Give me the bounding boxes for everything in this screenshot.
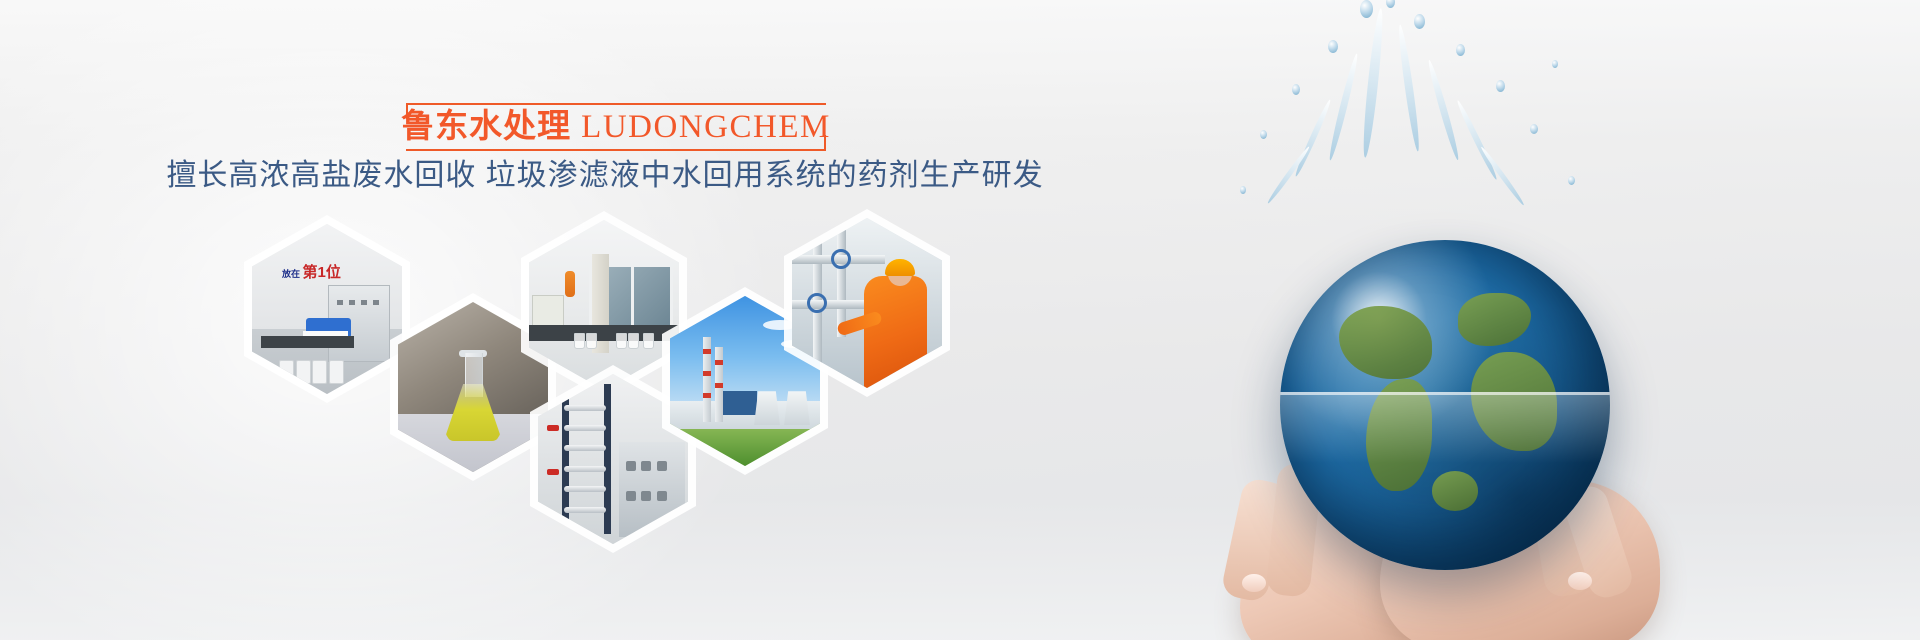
smoke-stack xyxy=(703,337,711,422)
subtitle: 擅长高浓高盐废水回收 垃圾渗滤液中水回用系统的药剂生产研发 xyxy=(0,156,1210,196)
glassware-orange-figure xyxy=(565,271,575,297)
plant-blue-block xyxy=(718,391,757,415)
water-splash-globe-artwork xyxy=(1140,0,1920,640)
hero-banner: 鲁东水处理 LUDONGCHEM 擅长高浓高盐废水回收 垃圾渗滤液中水回用系统的… xyxy=(0,0,1920,640)
lab-jug xyxy=(329,360,344,384)
pipe-valve xyxy=(831,249,851,269)
flask-body-yellow-liquid xyxy=(446,384,500,442)
title-bracket-frame: 鲁东水处理 LUDONGCHEM xyxy=(406,103,826,151)
globe-waterline xyxy=(1280,392,1610,395)
fingernail xyxy=(1242,574,1266,592)
glassware-cabinet xyxy=(532,295,564,328)
headline-block: 鲁东水处理 LUDONGCHEM 擅长高浓高盐废水回收 垃圾渗滤液中水回用系统的… xyxy=(0,0,1100,230)
title-chinese: 鲁东水处理 xyxy=(401,111,571,144)
slogan-accent: 第1位 xyxy=(303,264,341,281)
wall-slogan: 放在 第1位 xyxy=(282,268,341,279)
fingernail xyxy=(1568,572,1592,590)
globe-water-surface xyxy=(1280,392,1610,570)
glassware-bench xyxy=(529,325,679,340)
pipe-valve xyxy=(807,293,827,313)
worker-body xyxy=(864,276,927,388)
slogan-text: 放在 xyxy=(282,269,300,279)
cooling-tower xyxy=(784,391,810,425)
smoke-stack xyxy=(715,347,723,422)
globe-in-hands xyxy=(1260,240,1660,570)
lab-bench xyxy=(261,336,354,348)
hexagon-photo-cluster: 放在 第1位 xyxy=(230,215,970,525)
earth-globe xyxy=(1280,240,1610,570)
page-title: 鲁东水处理 LUDONGCHEM xyxy=(406,103,826,151)
title-english: LUDONGCHEM xyxy=(581,111,831,144)
lab-jug xyxy=(312,360,327,384)
cooling-tower xyxy=(754,391,780,425)
